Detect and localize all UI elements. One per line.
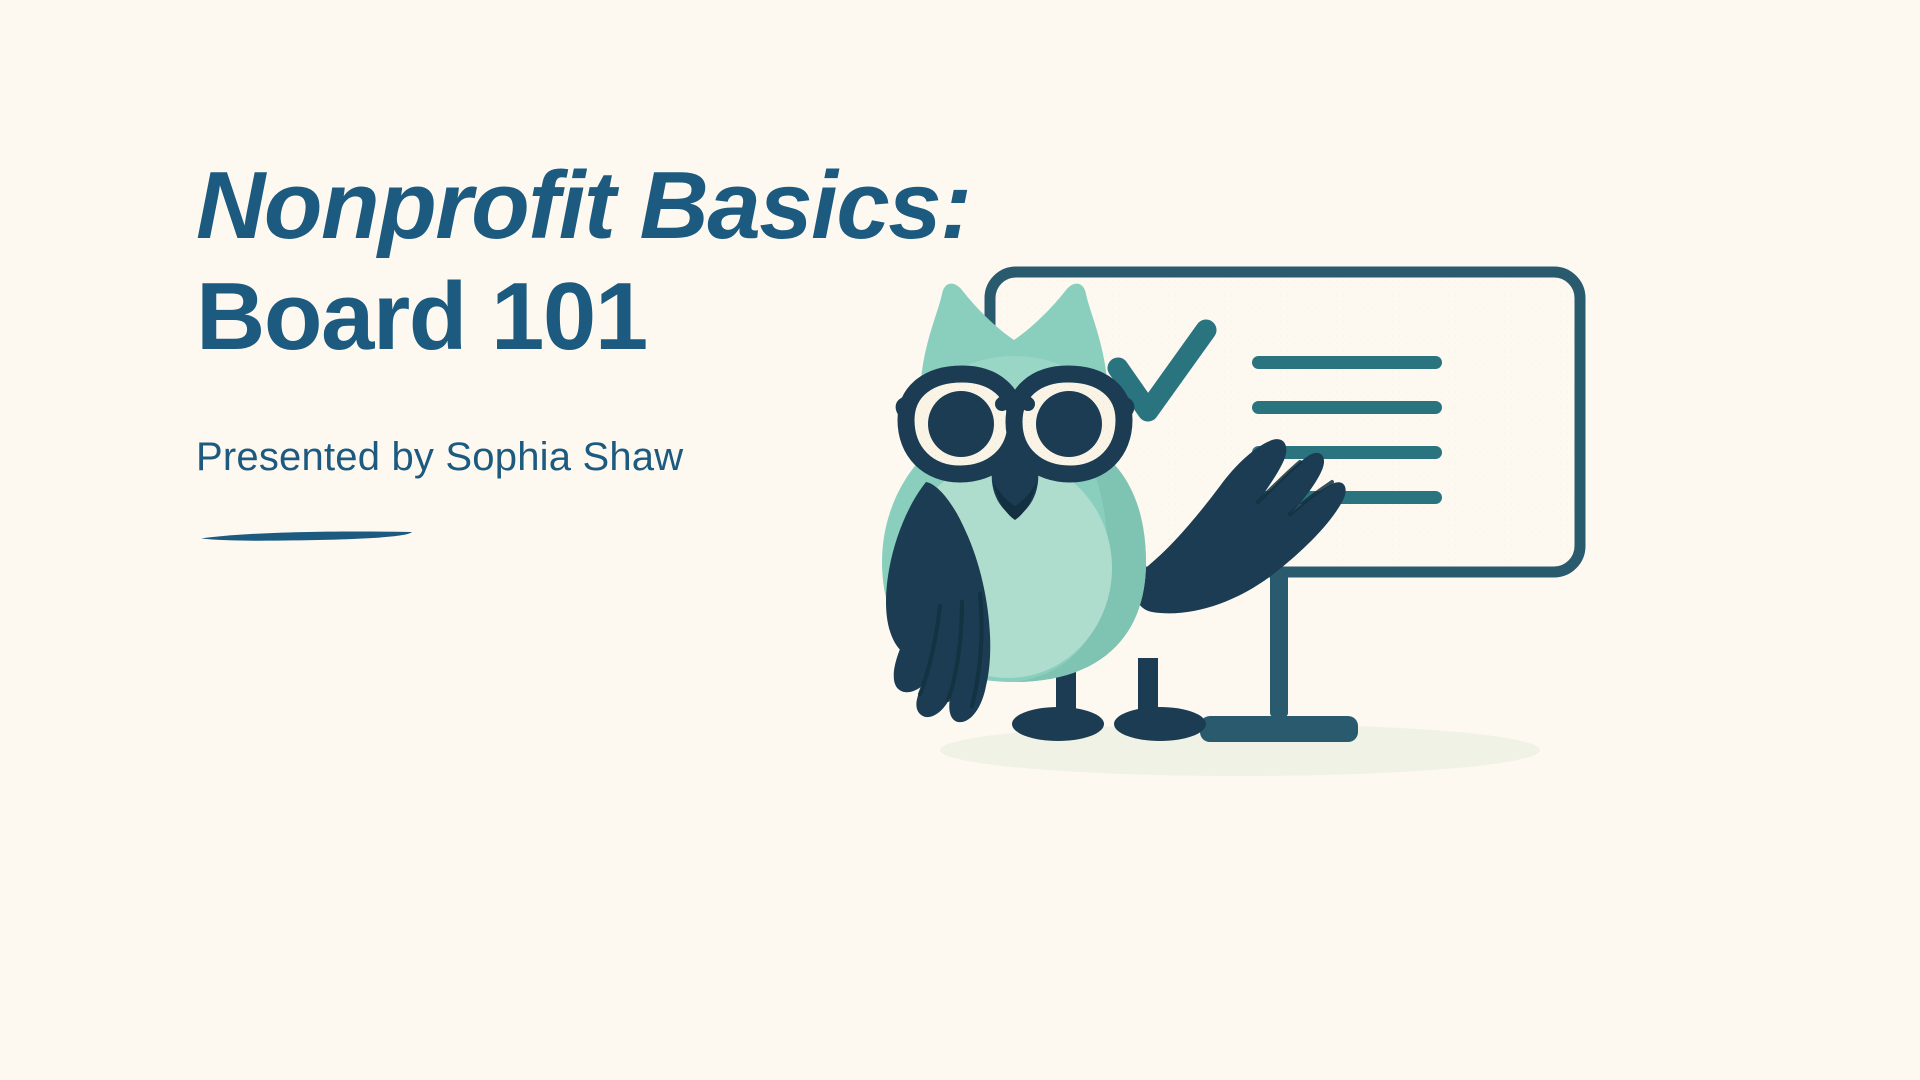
- owl-pupil: [928, 391, 994, 457]
- owl-foot: [1114, 707, 1206, 741]
- presenter-subtitle: Presented by Sophia Shaw: [196, 373, 956, 480]
- title-text-block: Nonprofit Basics: Board 101 Presented by…: [196, 150, 956, 549]
- page-title-line-2: Board 101: [196, 261, 956, 372]
- owl-foot: [1012, 707, 1104, 741]
- title-slide: Nonprofit Basics: Board 101 Presented by…: [0, 0, 1920, 1080]
- page-title-line-1: Nonprofit Basics:: [196, 150, 956, 261]
- list-line: [1252, 356, 1442, 369]
- list-line: [1252, 401, 1442, 414]
- owl-presenting-illustration: [880, 250, 1680, 810]
- owl-pupil: [1036, 391, 1102, 457]
- brush-stroke-underline-icon: [198, 526, 418, 544]
